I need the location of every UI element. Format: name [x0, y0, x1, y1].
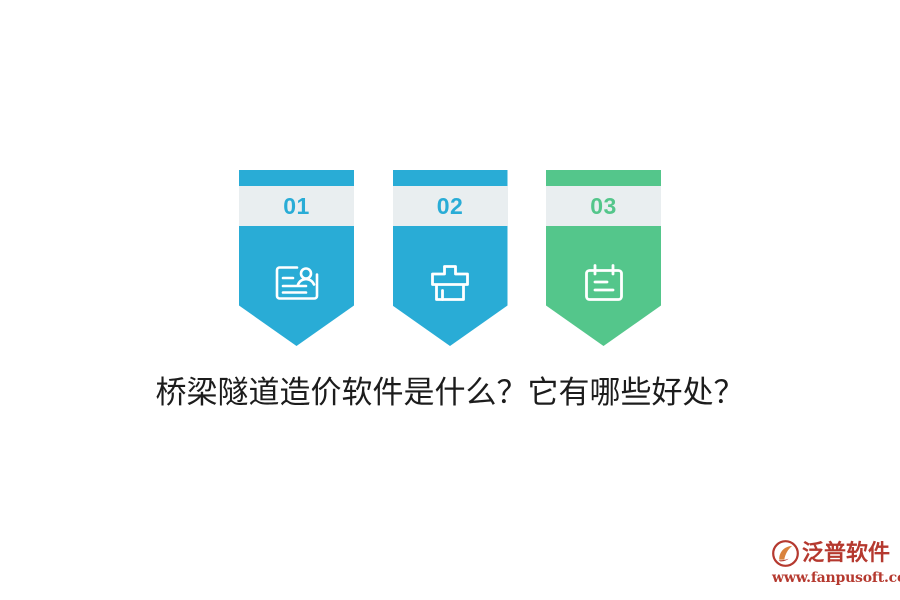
banner-number-band: 03 — [546, 186, 661, 226]
watermark-url: www.fanpusoft.com — [772, 569, 894, 587]
page-title: 桥梁隧道造价软件是什么？它有哪些好处？ — [0, 370, 900, 416]
banner-number-band: 02 — [393, 186, 508, 226]
banner-row: 01 02 — [239, 170, 661, 346]
watermark-brand-name: 泛普软件 — [802, 540, 890, 567]
watermark-top-row: 泛普软件 — [772, 538, 894, 568]
storefront-icon — [393, 258, 508, 308]
banner-item-02[interactable]: 02 — [393, 170, 508, 346]
banner-number-label: 02 — [437, 195, 464, 218]
contact-card-icon — [239, 258, 354, 308]
page-canvas: 01 02 — [0, 0, 900, 600]
banner-number-band: 01 — [239, 186, 354, 226]
banner-item-01[interactable]: 01 — [239, 170, 354, 346]
clipboard-notes-icon — [546, 258, 661, 308]
banner-item-03[interactable]: 03 — [546, 170, 661, 346]
fanpu-logo-icon — [772, 540, 799, 567]
watermark-logo: 泛普软件 www.fanpusoft.com — [772, 538, 894, 590]
banner-number-label: 01 — [283, 195, 310, 218]
banner-number-label: 03 — [590, 195, 617, 218]
